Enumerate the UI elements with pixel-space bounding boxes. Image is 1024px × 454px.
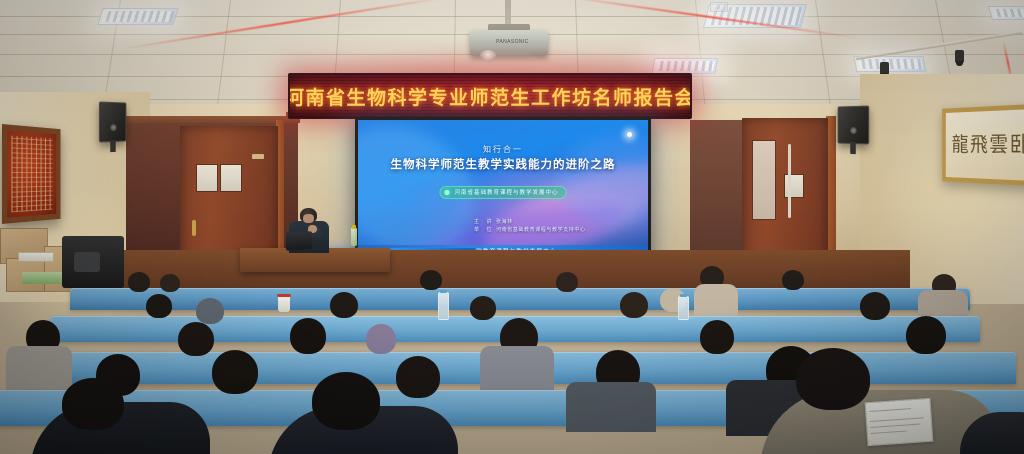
audience-head-r2c [330,292,358,318]
projector-brand-label: PANASONIC [496,39,529,45]
audience-head-f4 [556,272,578,292]
door-vision-panel-left-b [220,164,242,192]
projection-screen-frame: 知行合一 生物科学师范生教学实践能力的进阶之路 河南省基础教育课程与教学发展中心… [355,117,651,260]
slide-meta-block: 主 讲 张海林 单 位 河南省基础教育课程与教学支持中心 [474,218,586,234]
audience-head-r2g [860,292,890,320]
lecture-hall-photo: PANASONIC 龍飛雲卧 · · · · 河南省生物科学专业 [0,0,1024,454]
audience-head-r3g [906,316,946,354]
audience-head-r2e [620,292,648,318]
presenter-water-bottle [351,228,357,246]
ceiling-panel-light-6 [97,8,179,25]
slide-title-large: 生物科学师范生教学实践能力的进阶之路 [358,156,648,172]
audience-head-r4c [396,356,440,398]
slide-sparkle-icon [627,132,632,137]
water-bottle [438,292,449,320]
calligraphy-subtitle-right: · · · · [969,154,997,160]
audience-body-r4d [566,382,656,432]
calligraphy-columns-left [12,136,53,213]
foreground-head-left [62,378,124,430]
handout-paper[interactable] [865,398,934,446]
led-headline-banner: 河南省生物科学专业师范生工作坊名师报告会 [288,73,692,119]
foreground-head-center [312,372,380,430]
audience-head-r2a [146,294,172,318]
slide-meta-label-org: 单 位 [474,226,494,234]
slide-meta-row-org: 单 位 河南省基础教育课程与教学支持中心 [474,226,586,234]
slide-badge-label: 河南省基础教育课程与教学发展中心 [454,190,558,196]
door-handle-left[interactable] [192,220,196,236]
wall-speaker-left [99,101,126,142]
audience-seating-area [0,262,1024,454]
slide-meta-label-presenter: 主 讲 [474,218,494,226]
audience-head-r3f [700,320,734,354]
slide-meta-row-presenter: 主 讲 张海林 [474,218,586,226]
audience-head-f2 [160,274,180,292]
ceiling-panel-light-5 [988,6,1024,20]
door-vision-panel-left-a [196,164,218,192]
presenter-laptop [286,231,312,250]
stage-wall-trim-top [124,116,300,123]
door-handle-right[interactable] [788,144,791,218]
paper-stack-1 [18,252,54,262]
water-bottle-2 [678,296,689,320]
ceiling-projector: PANASONIC [470,30,548,56]
stage-wall-paneling-right [690,120,744,262]
slide-badge: 河南省基础教育课程与教学发展中心 [439,186,566,199]
audience-body-r3a [6,346,72,390]
projected-presentation-slide: 知行合一 生物科学师范生教学实践能力的进阶之路 河南省基础教育课程与教学发展中心… [358,120,648,257]
audience-head-r4b [212,350,258,394]
door-notice-right [752,140,776,220]
slide-title-small: 知行合一 [358,144,648,155]
audience-head-f1 [128,272,150,292]
audience-body-f1 [694,284,738,318]
slide-badge-dot-icon [444,190,449,195]
projector-lens [480,50,496,60]
audience-head-f6 [782,270,804,290]
door-vision-panel-right [784,174,804,198]
door-back-left[interactable] [180,126,278,262]
audience-head-r3c [290,318,326,354]
audience-head-r2d [470,296,496,320]
paper-coffee-cup [278,296,290,312]
audience-head-r3d [366,324,396,354]
slide-meta-value-org: 河南省基础教育课程与教学支持中心 [496,227,586,233]
framed-gold-calligraphy-plaque: 龍飛雲卧 · · · · [942,104,1024,186]
slide-meta-value-presenter: 张海林 [496,219,513,225]
projector-ceiling-mount [505,0,511,26]
banner-text: 河南省生物科学专业师范生工作坊名师报告会 [288,83,692,110]
framed-red-calligraphy-scroll [2,124,61,224]
audience-head-r3b [178,322,214,356]
audience-head-f3 [420,270,442,290]
audience-head-r2b [196,298,224,324]
foreground-head-right [796,348,870,410]
presenter-face [303,214,314,223]
door-push-plate-left [252,154,264,159]
ceiling-track-light [856,31,1022,60]
ceiling-panel-light-4 [710,2,728,12]
track-light-head-2 [955,50,964,63]
audience-body-r3e [480,346,554,392]
door-back-right[interactable] [742,118,828,266]
wall-speaker-right [838,105,870,144]
ceiling-panel-light-2 [652,58,719,74]
